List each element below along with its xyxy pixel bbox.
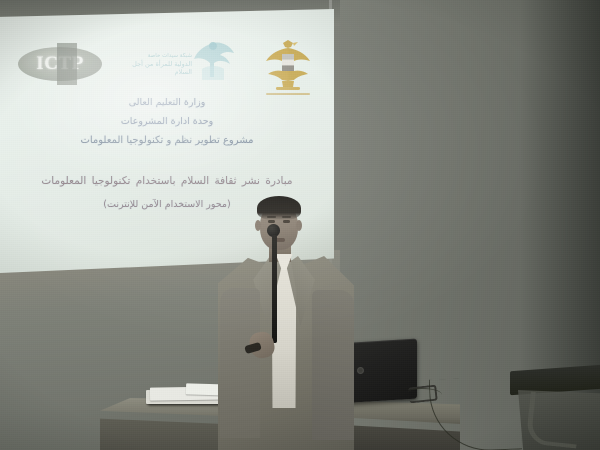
cable-segment: [408, 388, 442, 399]
microphone: [269, 224, 278, 342]
presenter-ear-left: [255, 220, 261, 231]
microphone-handle: [272, 235, 277, 343]
dove-woman-icon: [190, 39, 236, 81]
presenter-eye-left: [268, 220, 275, 223]
peace-logo-arabic-line2: الدولية للمرأة من أجل السلام: [126, 60, 192, 76]
slide-logo-row: ICTP شبكة سيدات خاصة الدولية للمرأة من أ…: [0, 35, 334, 97]
egypt-eagle-emblem: [262, 37, 314, 97]
presenter-hair: [257, 196, 301, 220]
presenter-arm-right: [312, 290, 354, 440]
peace-initiative-logo: شبكة سيدات خاصة الدولية للمرأة من أجل ال…: [126, 39, 236, 95]
peace-logo-arabic-line1: شبكة سيدات خاصة: [126, 52, 192, 60]
slide-text-block: وزارة التعليم العالى وحدة ادارة المشروعا…: [0, 93, 334, 213]
presenter-ear-right: [296, 220, 302, 231]
slide-header-line-3: مشروع تطوير نظم و تكنولوجيا المعلومات: [0, 133, 334, 149]
photo-scene: ICTP شبكة سيدات خاصة الدولية للمرأة من أ…: [0, 0, 600, 450]
slide-header-line-2: وحدة ادارة المشروعات: [0, 114, 334, 130]
presenter-arm-left: [220, 288, 260, 438]
ictp-bar-shape: [57, 43, 77, 85]
presenter: [214, 196, 360, 450]
ictp-logo: ICTP: [18, 47, 102, 81]
slide-title-line-1: مبادرة نشر ثقافة السلام باستخدام تكنولوج…: [0, 173, 334, 190]
presenter-eye-right: [283, 220, 290, 223]
chair-armrest: [525, 391, 581, 448]
eagle-of-saladin-icon: [262, 37, 314, 93]
slide-header-line-1: وزارة التعليم العالى: [0, 95, 334, 111]
chair: [500, 368, 600, 450]
